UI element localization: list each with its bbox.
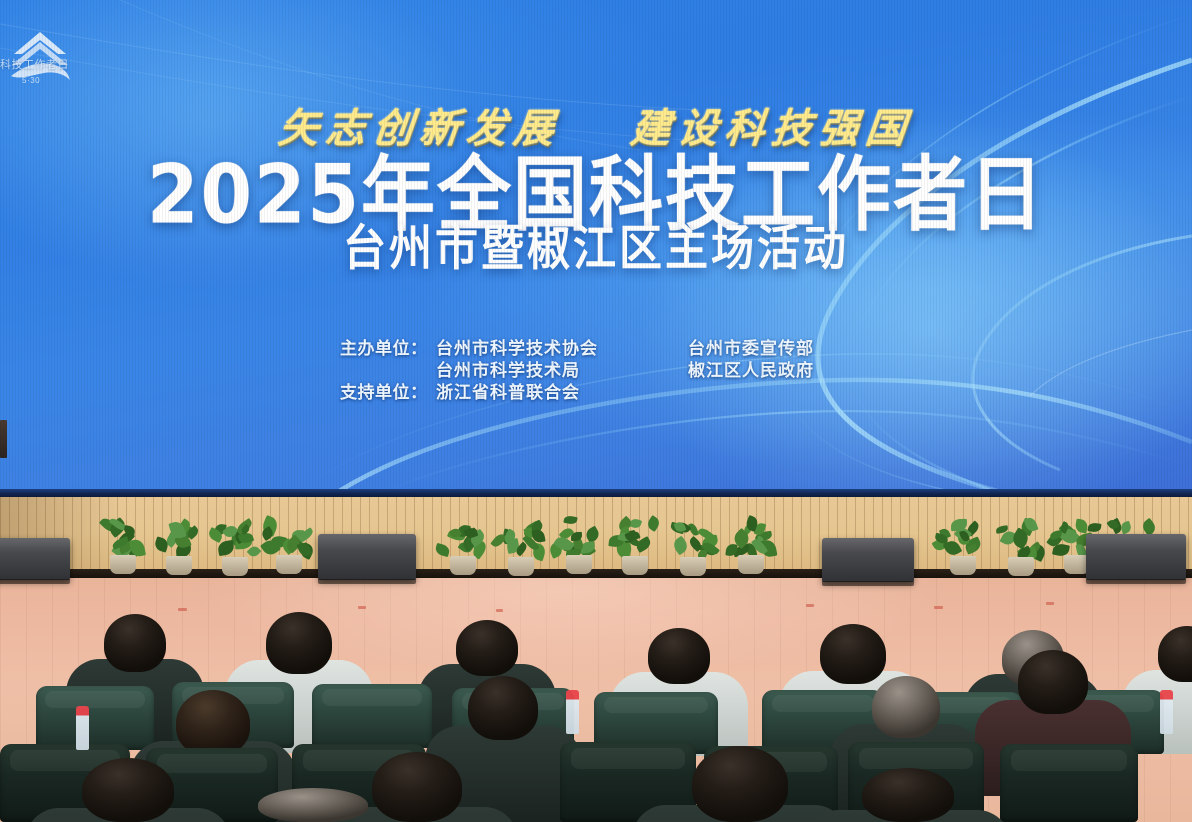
audience-member-head	[648, 628, 710, 684]
plant-foliage	[664, 518, 722, 562]
audience-member-head	[1018, 650, 1088, 714]
support-org: 浙江省科普联合会	[436, 382, 688, 404]
audience-member-head	[266, 612, 332, 674]
potted-plant	[92, 512, 154, 574]
audience-member-head	[468, 676, 538, 740]
host-org-b2: 椒江区人民政府	[688, 360, 814, 382]
floor-mark	[1046, 602, 1054, 605]
plant-leaf	[1074, 519, 1088, 534]
host-org-b1: 台州市委宣传部	[688, 338, 814, 360]
audience-member-head	[872, 676, 940, 738]
water-bottle	[1160, 690, 1173, 734]
plant-foliage	[150, 517, 208, 561]
potted-plant	[548, 512, 610, 574]
stage-speaker-monitor	[0, 538, 70, 580]
support-label: 支持单位：	[340, 382, 436, 404]
plant-pot	[276, 555, 302, 574]
floor-mark	[806, 604, 814, 607]
plant-leaf	[434, 543, 450, 557]
auditorium-seat	[1000, 744, 1138, 822]
potted-plant	[662, 514, 724, 576]
organizers-block: 主办单位： 台州市科学技术协会 台州市委宣传部 台州市科学技术局 椒江区人民政府…	[340, 338, 814, 404]
potted-plant	[720, 512, 782, 574]
led-screen: 5·30 科技工作者日 矢志创新发展 建设科技强国 2025年全国科技工作者日 …	[0, 0, 1192, 497]
audience-member-head	[456, 620, 518, 676]
audience-member-head	[258, 788, 368, 822]
plant-foliage	[934, 517, 992, 561]
potted-plant	[932, 513, 994, 575]
plant-pot	[450, 556, 476, 575]
audience-member-head	[82, 758, 174, 822]
plant-leaf	[645, 515, 661, 532]
plant-foliage	[206, 518, 264, 562]
plant-foliage	[434, 517, 492, 561]
plant-pot	[110, 555, 136, 574]
plant-pot	[738, 555, 764, 574]
host-org-a1: 台州市科学技术协会	[436, 338, 688, 360]
event-title-sub: 台州市暨椒江区主场活动	[0, 225, 1192, 273]
stage-speaker-monitor	[318, 534, 416, 580]
floor-mark	[496, 609, 503, 612]
plant-pot	[222, 557, 248, 576]
floor-mark	[178, 608, 187, 611]
host-org-a2: 台州市科学技术局	[436, 360, 688, 382]
plant-foliage	[492, 518, 550, 562]
audience-member-head	[104, 614, 166, 672]
plant-pot	[680, 557, 706, 576]
plant-pot	[622, 556, 648, 575]
floor-mark	[358, 606, 366, 609]
audience-member-head	[692, 746, 788, 822]
organizer-line-host-1: 主办单位： 台州市科学技术协会 台州市委宣传部	[340, 338, 814, 360]
plant-foliage	[722, 516, 780, 560]
plant-foliage	[94, 516, 152, 560]
potted-plant	[258, 512, 320, 574]
audience-member-head	[820, 624, 886, 684]
plant-foliage	[260, 516, 318, 560]
plant-pot	[508, 557, 534, 576]
conference-hall-photo: 5·30 科技工作者日 矢志创新发展 建设科技强国 2025年全国科技工作者日 …	[0, 0, 1192, 822]
plant-foliage	[606, 517, 664, 561]
potted-plant	[204, 514, 266, 576]
potted-plant	[990, 514, 1052, 576]
audience-member-head	[372, 752, 462, 822]
organizer-line-support: 支持单位： 浙江省科普联合会	[340, 382, 814, 404]
organizer-line-host-2: 台州市科学技术局 椒江区人民政府	[340, 360, 814, 382]
plant-pot	[166, 556, 192, 575]
potted-plant	[490, 514, 552, 576]
plant-foliage	[550, 516, 608, 560]
plant-leaf	[671, 536, 690, 556]
stage-speaker-monitor	[822, 538, 914, 582]
water-bottle	[76, 706, 89, 750]
plant-pot	[950, 556, 976, 575]
floor-mark	[934, 606, 943, 609]
plant-leaf	[1087, 522, 1101, 533]
auditorium-seat	[36, 686, 154, 750]
audience-member-head	[176, 690, 250, 756]
auditorium-seat	[312, 684, 432, 748]
host-indent	[340, 360, 436, 382]
potted-plant	[604, 513, 666, 575]
potted-plant	[148, 513, 210, 575]
plant-pot	[566, 555, 592, 574]
potted-plant	[432, 513, 494, 575]
plant-pot	[1008, 557, 1034, 576]
host-label: 主办单位：	[340, 338, 436, 360]
plant-leaf	[563, 515, 577, 526]
water-bottle	[566, 690, 579, 734]
screen-edge-object	[0, 420, 7, 458]
audience-member-head	[862, 768, 954, 822]
plant-foliage	[992, 518, 1050, 562]
logo-caption: 科技工作者日	[0, 56, 86, 78]
stage-speaker-monitor	[1086, 534, 1186, 580]
